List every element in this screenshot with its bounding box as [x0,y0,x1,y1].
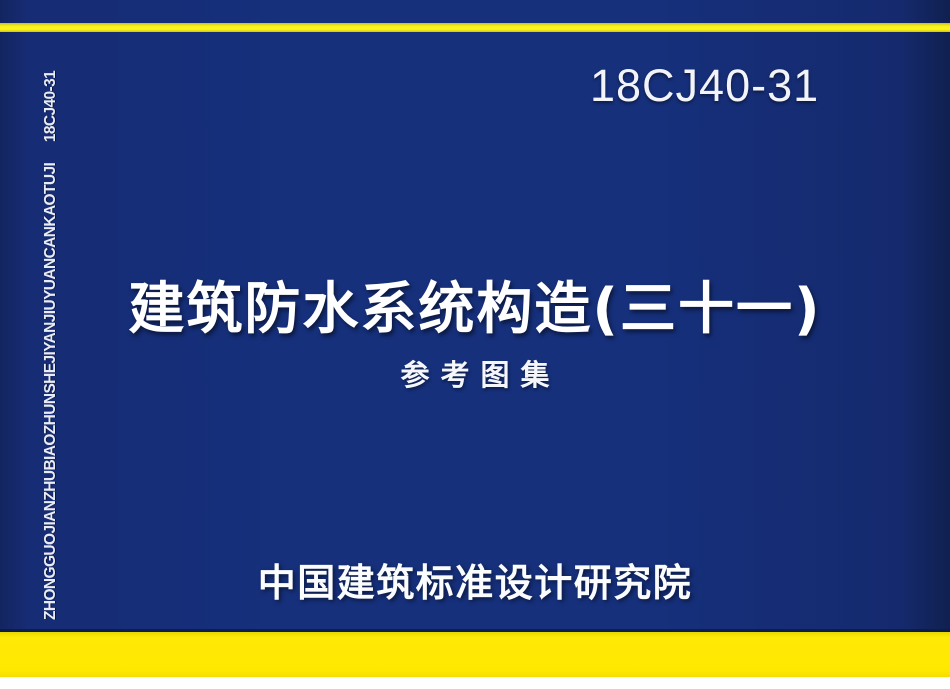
publisher-name: 中国建筑标准设计研究院 [0,552,950,607]
top-yellow-rule [0,23,950,32]
standard-code: 18CJ40-31 [590,60,890,112]
book-cover: ZHONGGUOJIANZHUBIAOZHUNSHEJIYANJIUYUANCA… [0,0,950,689]
bottom-yellow-band [0,632,950,677]
spine-code: 18CJ40-31 [42,71,59,142]
subtitle: 参考图集 [0,352,950,394]
spine-pinyin-text: ZHONGGUOJIANZHUBIAOZHUNSHEJIYANJIUYUANCA… [42,71,60,620]
page-title: 建筑防水系统构造(三十一) [0,264,950,345]
spine-separator [42,142,59,163]
